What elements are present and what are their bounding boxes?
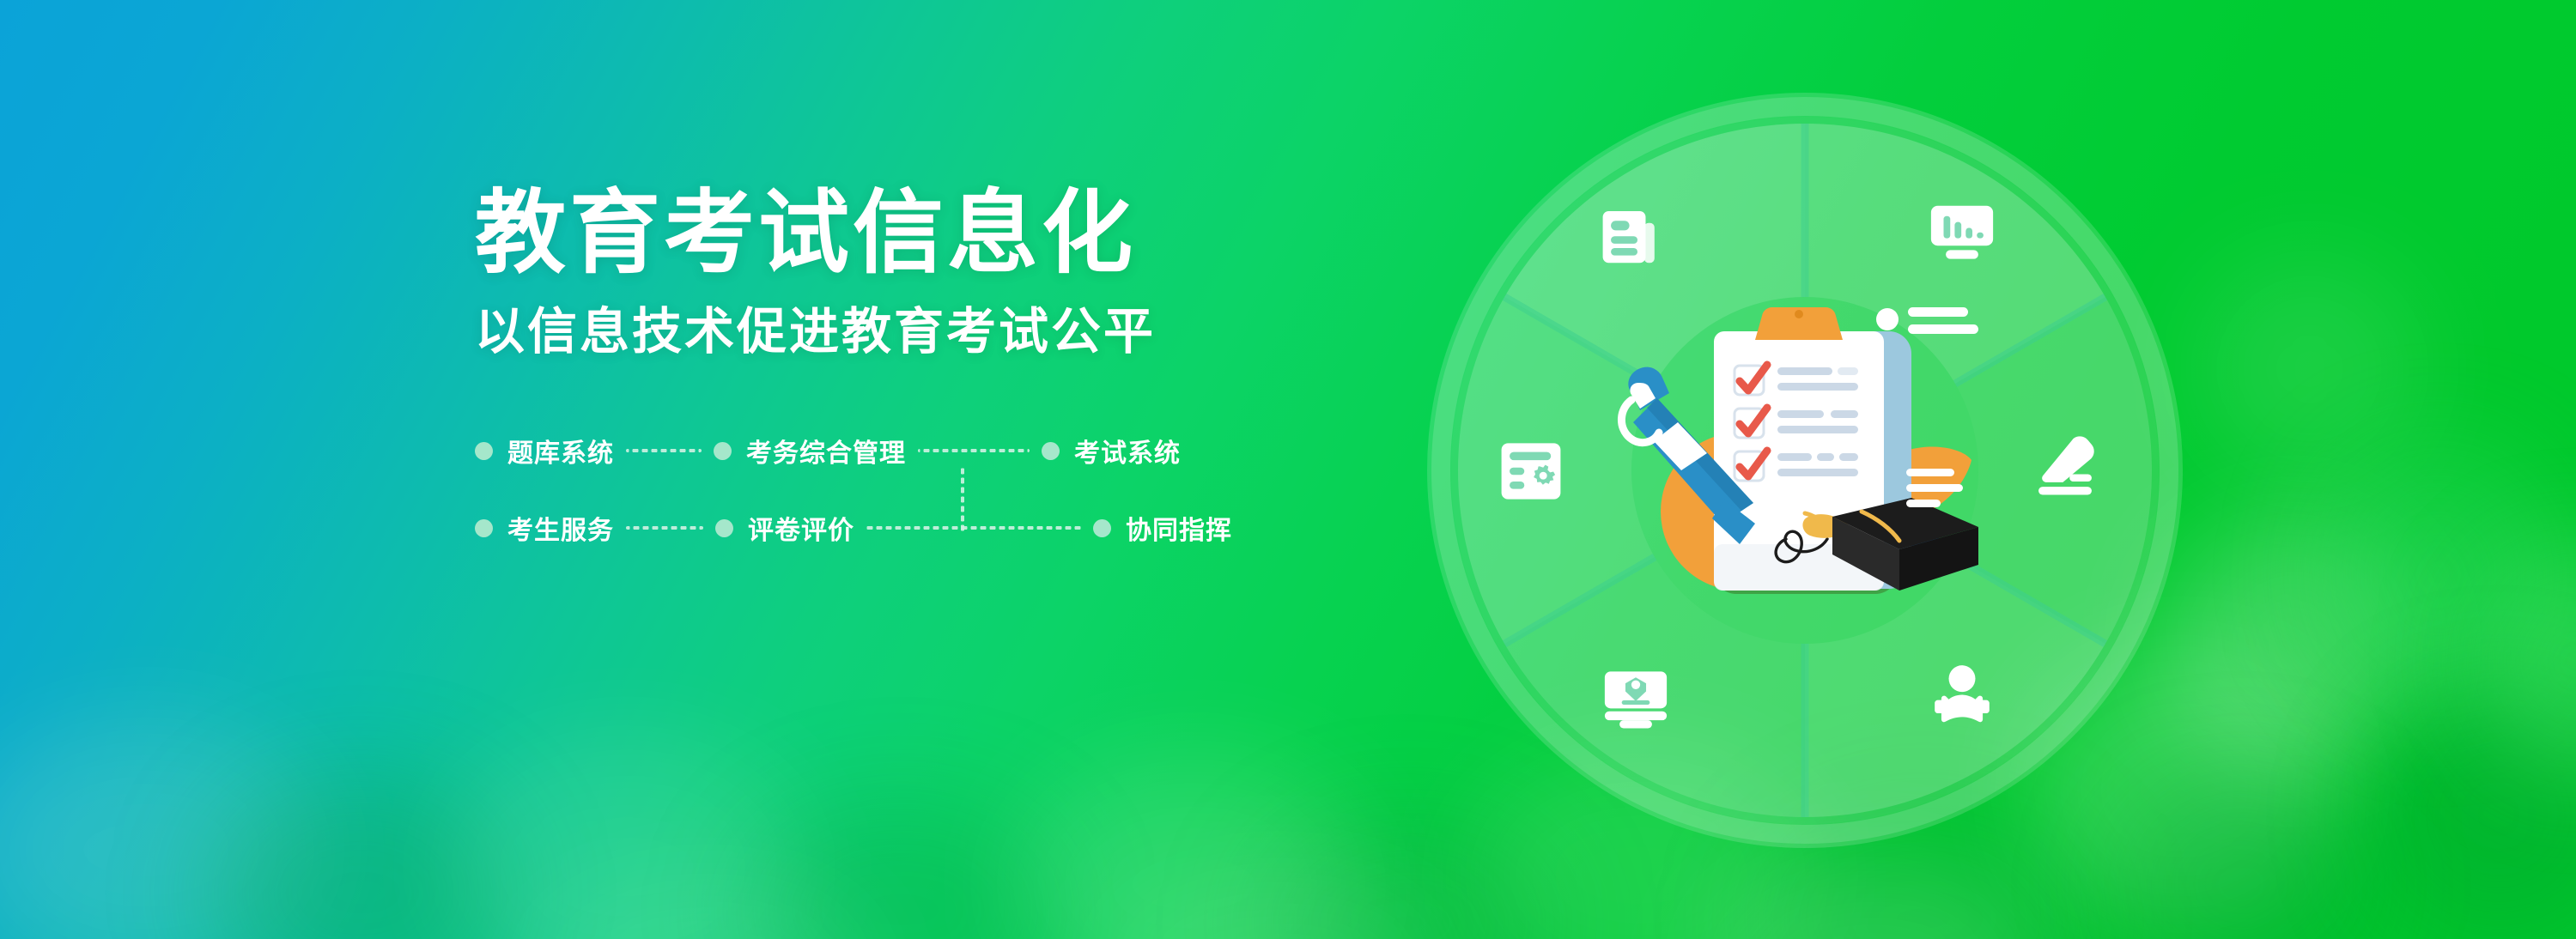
feature-label: 考试系统 xyxy=(1074,432,1181,469)
bullet-dot-icon xyxy=(715,519,733,537)
feature-row: 考生服务 评卷评价 协同指挥 xyxy=(475,504,1248,552)
page-subtitle: 以信息技术促进教育考试公平 xyxy=(475,305,1419,360)
feature-label: 考生服务 xyxy=(507,509,614,547)
feature-label: 题库系统 xyxy=(507,432,614,469)
feature-row: 题库系统 考务综合管理 考试系统 xyxy=(475,427,1248,475)
feature-item-coordinated-command[interactable]: 协同指挥 xyxy=(1093,509,1232,547)
bullet-dot-icon xyxy=(714,442,732,460)
feature-list: 题库系统 考务综合管理 考试系统 考生服务 xyxy=(475,427,1248,552)
feature-label: 协同指挥 xyxy=(1126,509,1232,547)
feature-item-exam-system[interactable]: 考试系统 xyxy=(1042,432,1181,469)
bullet-dot-icon xyxy=(475,519,493,537)
form-settings-gear-icon xyxy=(1494,434,1568,508)
six-segment-ring-graphic xyxy=(1427,93,2183,848)
feature-item-candidate-service[interactable]: 考生服务 xyxy=(475,509,614,547)
connector-line xyxy=(866,519,1081,537)
monitor-bar-chart-icon xyxy=(1925,194,1999,268)
bullet-dot-icon xyxy=(1093,519,1111,537)
monitor-pen-nib-icon xyxy=(1599,663,1673,736)
connector-line xyxy=(626,519,703,537)
bullet-dot-icon xyxy=(475,442,493,460)
clipboard-checklist-illustration xyxy=(1604,287,1999,656)
feature-item-question-bank[interactable]: 题库系统 xyxy=(475,432,614,469)
floating-label-mark xyxy=(1876,307,1978,334)
connector-line xyxy=(918,442,1030,460)
hero-text-block: 教育考试信息化 以信息技术促进教育考试公平 题库系统 考务综合管理 xyxy=(475,185,1419,552)
person-reading-book-icon xyxy=(1925,661,1999,735)
feature-item-exam-admin[interactable]: 考务综合管理 xyxy=(714,432,906,469)
document-pages-icon xyxy=(1595,201,1669,275)
hero-banner: 教育考试信息化 以信息技术促进教育考试公平 题库系统 考务综合管理 xyxy=(0,0,2576,939)
connector-line xyxy=(626,442,702,460)
eraser-stamp-icon xyxy=(2028,429,2102,503)
feature-item-grading-evaluation[interactable]: 评卷评价 xyxy=(715,509,854,547)
page-title: 教育考试信息化 xyxy=(475,185,1419,282)
feature-label: 考务综合管理 xyxy=(746,432,906,469)
bullet-dot-icon xyxy=(1042,442,1060,460)
feature-label: 评卷评价 xyxy=(748,509,854,547)
vertical-connector-line xyxy=(961,466,964,533)
